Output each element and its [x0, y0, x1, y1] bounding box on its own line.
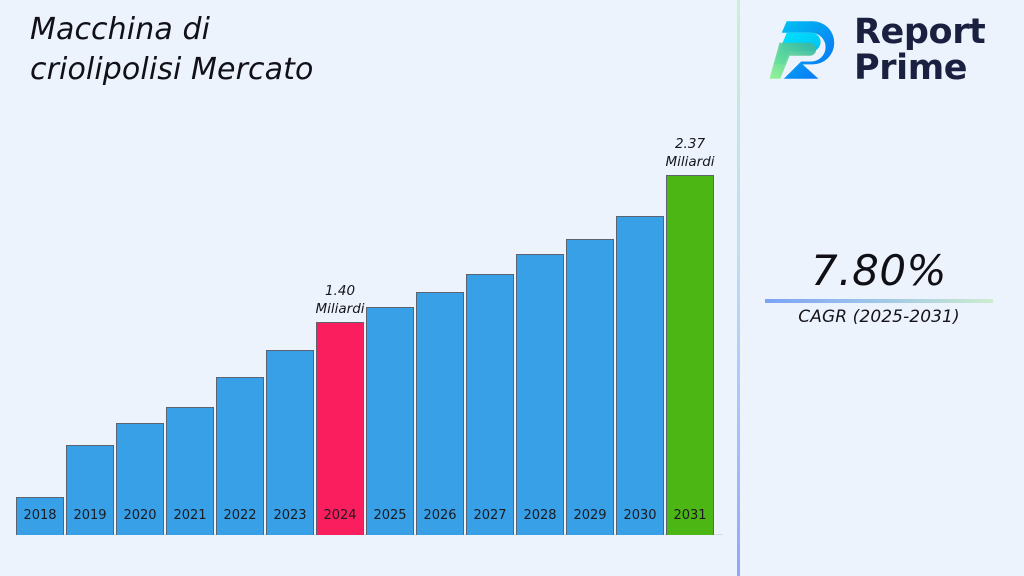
bar-fill-2030	[616, 216, 664, 535]
slide: Macchina di criolipolisi Mercato 2018201…	[0, 0, 1024, 576]
bar-fill-2024	[316, 322, 364, 535]
cagr-divider	[765, 299, 993, 303]
cagr-value: 7.80%	[740, 248, 1018, 294]
bar-chart: 2018201920202021202220231.40 Miliardi202…	[0, 0, 737, 576]
bar-2024[interactable]: 1.40 Miliardi2024	[316, 322, 364, 535]
bar-2028[interactable]: 2028	[516, 254, 564, 535]
brand-logo[interactable]: Report Prime	[768, 14, 985, 86]
bar-2027[interactable]: 2027	[466, 274, 514, 535]
bar-2031[interactable]: 2.37 Miliardi2031	[666, 175, 714, 535]
bar-fill-2029	[566, 239, 614, 535]
side-panel: Report Prime 7.80% CAGR (2025-2031)	[740, 0, 1024, 576]
bar-2030[interactable]: 2030	[616, 216, 664, 535]
bar-2026[interactable]: 2026	[416, 292, 464, 535]
x-tick-2031: 2031	[630, 508, 750, 523]
cagr-block: 7.80% CAGR (2025-2031)	[740, 248, 1018, 327]
bar-fill-2028	[516, 254, 564, 535]
report-prime-logo-icon	[768, 14, 840, 86]
bar-value-label-2031: 2.37 Miliardi	[630, 136, 750, 171]
brand-name: Report Prime	[854, 14, 985, 86]
chart-panel: Macchina di criolipolisi Mercato 2018201…	[0, 0, 737, 576]
bar-2029[interactable]: 2029	[566, 239, 614, 535]
bar-fill-2026	[416, 292, 464, 535]
bar-fill-2027	[466, 274, 514, 535]
cagr-caption: CAGR (2025-2031)	[740, 307, 1018, 327]
bar-fill-2025	[366, 307, 414, 535]
bar-fill-2031	[666, 175, 714, 535]
bar-2025[interactable]: 2025	[366, 307, 414, 535]
